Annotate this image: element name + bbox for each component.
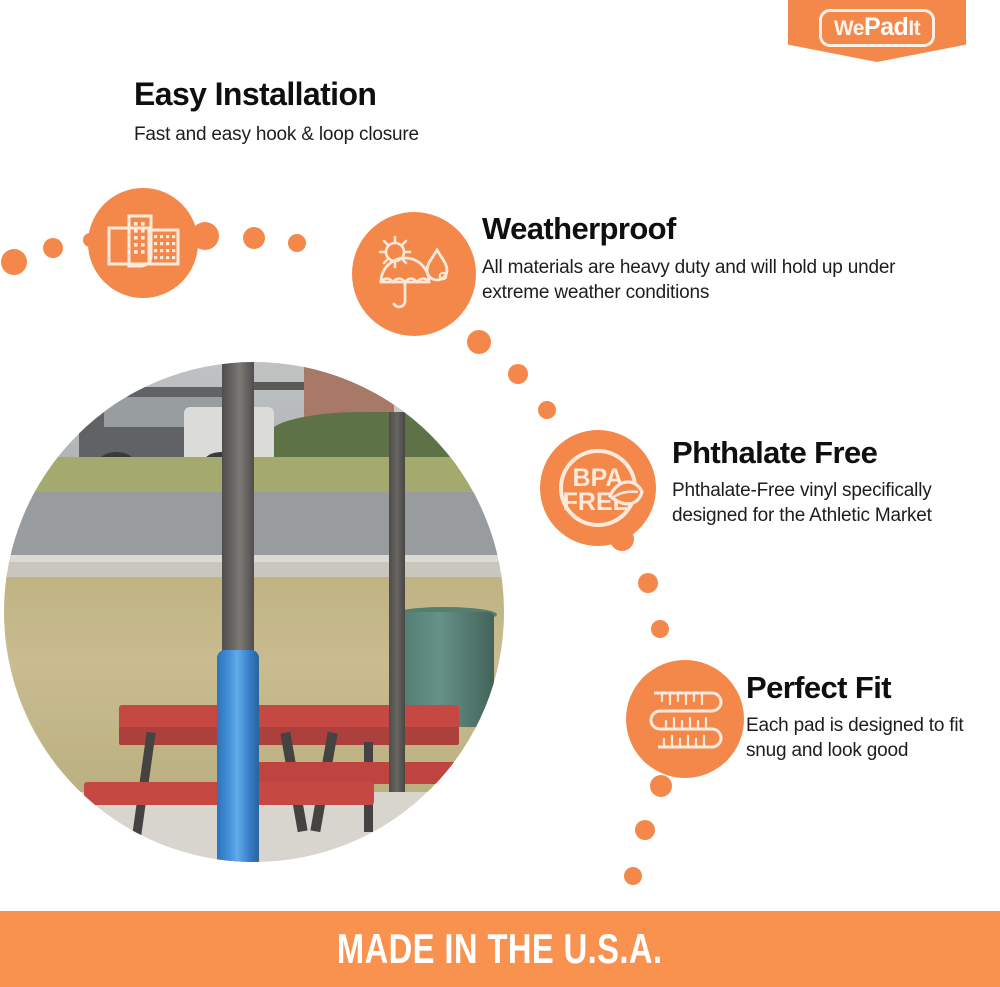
trail-dot — [651, 620, 669, 638]
trail-dot — [43, 238, 63, 258]
feature-description: Phthalate-Free vinyl specifically design… — [672, 478, 972, 528]
sun-umbrella-rain-icon — [352, 212, 476, 336]
feature-title: Perfect Fit — [746, 672, 996, 705]
hook-and-loop-icon — [88, 188, 198, 298]
trail-dot — [650, 775, 672, 797]
logo-frame: We Pad It — [819, 9, 935, 47]
made-in-usa-banner: MADE IN THE U.S.A. — [0, 911, 1000, 987]
feature-easy-installation: Easy Installation Fast and easy hook & l… — [134, 78, 564, 147]
trail-dot — [243, 227, 265, 249]
logo-text-it: It — [908, 18, 920, 39]
logo-text-pad: Pad — [864, 15, 908, 40]
product-photo — [4, 362, 504, 862]
bpa-free-leaf-icon: BPA FREE — [540, 430, 656, 546]
feature-title: Weatherproof — [482, 213, 902, 246]
feature-description: Fast and easy hook & loop closure — [134, 122, 564, 147]
feature-title: Phthalate Free — [672, 437, 972, 470]
feature-weatherproof: Weatherproof All materials are heavy dut… — [482, 213, 902, 305]
trail-dot — [288, 234, 306, 252]
feature-perfect-fit: Perfect Fit Each pad is designed to fit … — [746, 672, 996, 763]
trail-dot — [467, 330, 491, 354]
feature-title: Easy Installation — [134, 78, 564, 112]
trail-dot — [508, 364, 528, 384]
trail-dot — [624, 867, 642, 885]
trail-dot — [635, 820, 655, 840]
brand-logo: We Pad It — [788, 0, 966, 62]
trail-dot — [538, 401, 556, 419]
feature-phthalate-free: Phthalate Free Phthalate-Free vinyl spec… — [672, 437, 972, 528]
feature-description: Each pad is designed to fit snug and loo… — [746, 713, 996, 763]
trail-dot — [638, 573, 658, 593]
banner-label: MADE IN THE U.S.A. — [337, 925, 663, 973]
trail-dot — [1, 249, 27, 275]
measuring-tape-icon — [626, 660, 744, 778]
logo-text-we: We — [834, 18, 864, 39]
photo-scene — [4, 362, 504, 862]
feature-description: All materials are heavy duty and will ho… — [482, 255, 902, 305]
